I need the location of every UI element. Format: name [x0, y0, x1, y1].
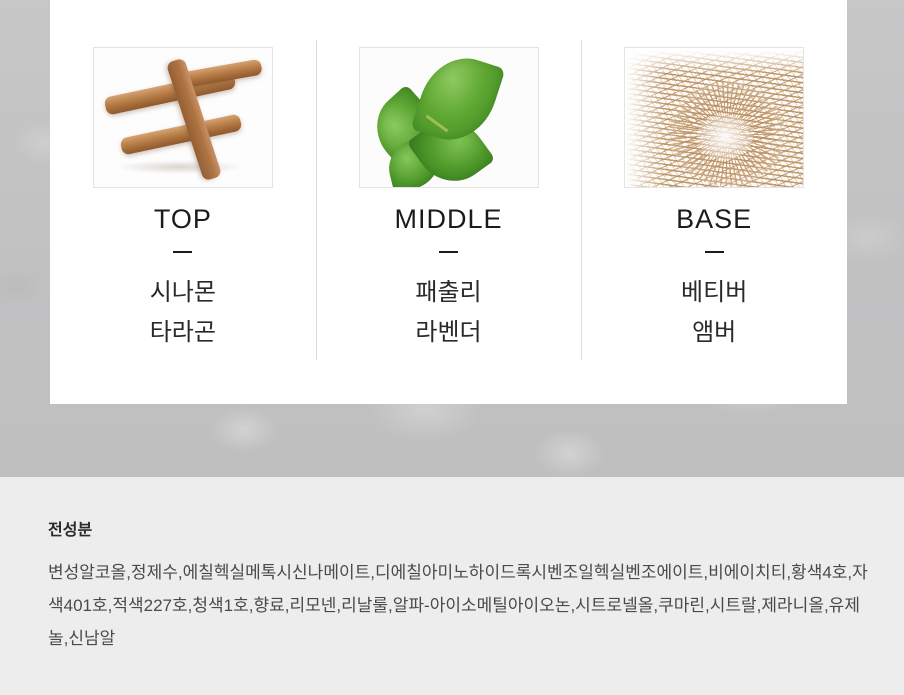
- photo-shadow: [114, 160, 244, 174]
- note-divider-dash: [173, 251, 192, 253]
- note-column-base: BASE 베티버 앰버: [581, 0, 847, 404]
- cinnamon-sticks-photo: [93, 47, 273, 188]
- note-column-top: TOP 시나몬 타라곤: [50, 0, 316, 404]
- note-column-middle: MIDDLE 패출리 라벤더: [316, 0, 582, 404]
- cinnamon-stick-shape: [119, 114, 242, 156]
- vetiver-roots-photo: [624, 47, 804, 188]
- note-item: 라벤더: [415, 313, 481, 353]
- note-item: 앰버: [681, 313, 747, 353]
- note-item: 베티버: [681, 273, 747, 313]
- note-title-top: TOP: [154, 206, 212, 233]
- product-detail-page: TOP 시나몬 타라곤 MIDDLE 패출리: [0, 0, 904, 695]
- note-divider-dash: [705, 251, 724, 253]
- note-items-top: 시나몬 타라곤: [150, 273, 216, 353]
- note-item: 패출리: [415, 273, 481, 313]
- note-item: 시나몬: [150, 273, 216, 313]
- ingredients-section: 전성분 변성알코올,정제수,에칠헥실메톡시신나메이트,디에칠아미노하이드록시벤조…: [0, 477, 904, 695]
- note-items-base: 베티버 앰버: [681, 273, 747, 353]
- note-title-base: BASE: [676, 206, 752, 233]
- ingredients-heading: 전성분: [48, 516, 92, 540]
- fragrance-notes-card: TOP 시나몬 타라곤 MIDDLE 패출리: [50, 0, 847, 404]
- fragrance-notes-row: TOP 시나몬 타라곤 MIDDLE 패출리: [50, 0, 847, 404]
- note-title-middle: MIDDLE: [395, 206, 503, 233]
- note-item: 타라곤: [150, 313, 216, 353]
- note-items-middle: 패출리 라벤더: [415, 273, 481, 353]
- root-center-highlight: [697, 114, 753, 160]
- note-divider-dash: [439, 251, 458, 253]
- patchouli-leaves-photo: [359, 47, 539, 188]
- ingredients-text: 변성알코올,정제수,에칠헥실메톡시신나메이트,디에칠아미노하이드록시벤조일헥실벤…: [48, 556, 874, 655]
- photo-fade-left: [625, 48, 665, 188]
